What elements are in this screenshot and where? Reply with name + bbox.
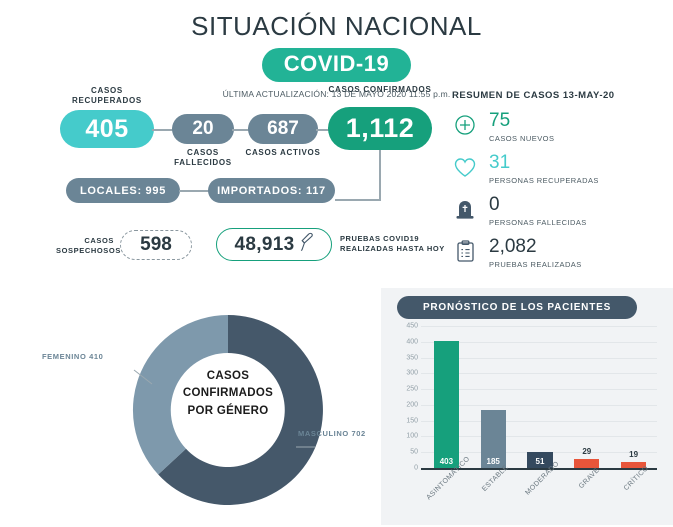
bar-1: 185 bbox=[481, 410, 506, 468]
gender-donut-chart: CASOS CONFIRMADOS POR GÉNERO FEMENINO 41… bbox=[30, 292, 385, 522]
y-tick-100: 100 bbox=[406, 433, 418, 440]
heart-icon bbox=[452, 152, 478, 182]
pill-casos-fallecidos: 20 bbox=[172, 114, 234, 144]
summary-item-pruebas-realizadas: 2,082 PRUEBAS REALIZADAS bbox=[452, 236, 667, 269]
plus-circle-icon bbox=[452, 110, 478, 140]
connector-4 bbox=[179, 190, 209, 192]
bar-column-4: 19 bbox=[613, 326, 655, 468]
summary-label-casos-nuevos: CASOS NUEVOS bbox=[489, 134, 554, 143]
donut-label-masculino: MASCULINO 702 bbox=[298, 429, 366, 438]
summary-title: RESUMEN DE CASOS 13-MAY-20 bbox=[452, 90, 667, 101]
pruebas-value: 48,913 bbox=[235, 234, 295, 256]
donut-center-title: CASOS CONFIRMADOS POR GÉNERO bbox=[173, 368, 283, 420]
covid-badge: COVID-19 bbox=[262, 48, 411, 82]
pill-casos-confirmados: 1,112 bbox=[328, 107, 432, 150]
x-axis-labels: ASINTOMÁTICOESTABLEMODERADOGRAVECRÍTICO bbox=[423, 472, 657, 522]
summary-item-personas-fallecidas: 0 PERSONAS FALLECIDAS bbox=[452, 194, 667, 227]
y-tick-350: 350 bbox=[406, 354, 418, 361]
origin-row: LOCALES: 995 IMPORTADOS: 117 bbox=[0, 170, 440, 214]
x-label-column-4: CRÍTICO bbox=[613, 472, 655, 522]
chart-plot-area: 050100150200250300350400450 403185512919… bbox=[395, 326, 661, 521]
label-pruebas-realizadas: PRUEBAS COVID19 REALIZADAS HASTA HOY bbox=[340, 234, 450, 254]
page-title: SITUACIÓN NACIONAL bbox=[0, 12, 673, 41]
x-label-3: GRAVE bbox=[578, 467, 601, 490]
pill-importados: IMPORTADOS: 117 bbox=[208, 178, 335, 203]
y-tick-450: 450 bbox=[406, 323, 418, 330]
y-tick-200: 200 bbox=[406, 401, 418, 408]
label-casos-sospechosos: CASOS SOSPECHOSOS bbox=[56, 236, 114, 256]
summary-item-personas-recuperadas: 31 PERSONAS RECUPERADAS bbox=[452, 152, 667, 185]
connector-1 bbox=[152, 129, 174, 131]
donut-title-line-3: POR GÉNERO bbox=[173, 403, 283, 420]
clipboard-icon bbox=[452, 236, 478, 266]
y-tick-300: 300 bbox=[406, 370, 418, 377]
bar-column-3: 29 bbox=[566, 326, 608, 468]
pill-casos-recuperados: 405 bbox=[60, 110, 154, 148]
label-casos-confirmados: CASOS CONFIRMADOS bbox=[325, 85, 435, 95]
bar-value-1: 185 bbox=[481, 457, 506, 466]
label-casos-fallecidos: CASOS FALLECIDOS bbox=[167, 148, 239, 168]
pill-casos-activos: 687 bbox=[248, 114, 318, 144]
bar-value-4: 19 bbox=[621, 450, 646, 459]
stats-flow: CASOS RECUPERADOS 405 20 CASOS FALLECIDO… bbox=[0, 88, 440, 270]
summary-item-casos-nuevos: 75 CASOS NUEVOS bbox=[452, 110, 667, 143]
summary-label-pruebas-realizadas: PRUEBAS REALIZADAS bbox=[489, 260, 582, 269]
donut-title-line-2: CONFIRMADOS bbox=[173, 385, 283, 402]
case-flow-row: CASOS RECUPERADOS 405 20 CASOS FALLECIDO… bbox=[0, 88, 440, 158]
y-tick-400: 400 bbox=[406, 338, 418, 345]
bar-value-2: 51 bbox=[527, 457, 552, 466]
bar-column-0: 403 bbox=[425, 326, 467, 468]
suspected-and-tests-row: CASOS SOSPECHOSOS 598 48,913 PRUEBAS COV… bbox=[0, 220, 440, 270]
pill-locales: LOCALES: 995 bbox=[66, 178, 180, 203]
chart-title: PRONÓSTICO DE LOS PACIENTES bbox=[397, 296, 637, 319]
summary-value-personas-fallecidas: 0 bbox=[489, 195, 587, 214]
pill-pruebas-realizadas: 48,913 bbox=[216, 228, 332, 261]
bar-series: 403185512919 bbox=[423, 326, 657, 468]
bar-column-2: 51 bbox=[519, 326, 561, 468]
summary-panel: RESUMEN DE CASOS 13-MAY-20 75 CASOS NUEV… bbox=[452, 90, 667, 278]
bar-0: 403 bbox=[434, 341, 459, 468]
y-tick-150: 150 bbox=[406, 417, 418, 424]
bar-value-3: 29 bbox=[574, 447, 599, 456]
donut-label-femenino: FEMENINO 410 bbox=[42, 352, 103, 361]
summary-label-personas-fallecidas: PERSONAS FALLECIDAS bbox=[489, 218, 587, 227]
x-label-column-3: GRAVE bbox=[566, 472, 608, 522]
x-label-column-0: ASINTOMÁTICO bbox=[425, 472, 467, 522]
bar-column-1: 185 bbox=[472, 326, 514, 468]
y-tick-0: 0 bbox=[414, 465, 418, 472]
x-label-column-1: ESTABLE bbox=[472, 472, 514, 522]
donut-title-line-1: CASOS bbox=[173, 368, 283, 385]
summary-value-pruebas-realizadas: 2,082 bbox=[489, 237, 582, 256]
infographic-page: SITUACIÓN NACIONAL COVID-19 ÚLTIMA ACTUA… bbox=[0, 0, 673, 525]
summary-value-casos-nuevos: 75 bbox=[489, 111, 554, 130]
summary-label-personas-recuperadas: PERSONAS RECUPERADAS bbox=[489, 176, 599, 185]
summary-value-personas-recuperadas: 31 bbox=[489, 153, 599, 172]
swab-icon bbox=[300, 232, 313, 257]
y-axis: 050100150200250300350400450 bbox=[395, 326, 421, 468]
y-tick-250: 250 bbox=[406, 386, 418, 393]
tombstone-icon bbox=[452, 194, 478, 224]
label-casos-activos: CASOS ACTIVOS bbox=[245, 148, 321, 158]
x-label-column-2: MODERADO bbox=[519, 472, 561, 522]
prognosis-bar-chart: PRONÓSTICO DE LOS PACIENTES 050100150200… bbox=[381, 288, 673, 525]
pill-casos-sospechosos: 598 bbox=[120, 230, 192, 260]
bar-value-0: 403 bbox=[434, 457, 459, 466]
y-tick-50: 50 bbox=[410, 449, 418, 456]
label-casos-recuperados: CASOS RECUPERADOS bbox=[60, 86, 154, 106]
header: SITUACIÓN NACIONAL COVID-19 ÚLTIMA ACTUA… bbox=[0, 0, 673, 99]
